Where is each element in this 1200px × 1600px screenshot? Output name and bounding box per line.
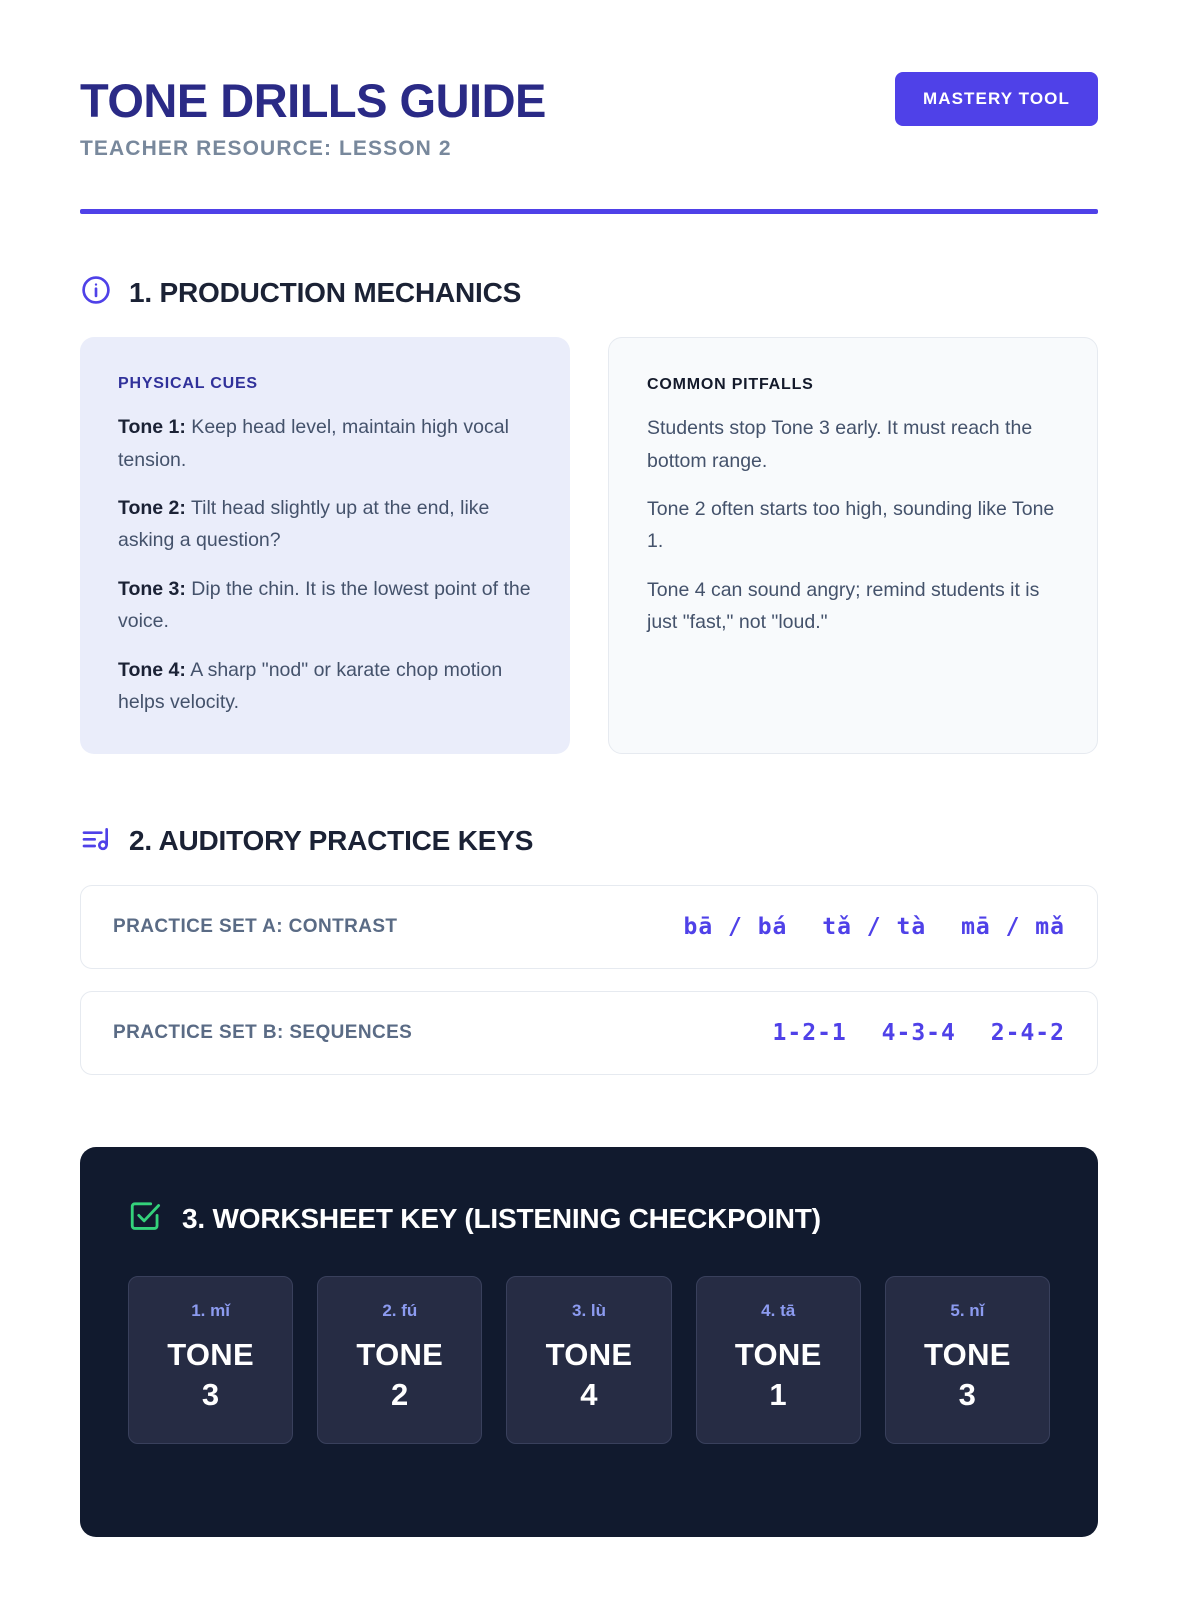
section2-heading-row: 2. AUDITORY PRACTICE KEYS — [80, 822, 1098, 859]
tone-answer-card[interactable]: 5. nǐ TONE 3 — [885, 1276, 1050, 1443]
practice-value: 4-3-4 — [882, 1020, 956, 1046]
tone-answer-card[interactable]: 1. mǐ TONE 3 — [128, 1276, 293, 1443]
common-pitfalls-kicker: COMMON PITFALLS — [647, 376, 1059, 394]
tone-card-number: 3 — [139, 1375, 282, 1415]
section1-title: 1. PRODUCTION MECHANICS — [129, 277, 521, 309]
physical-cues-item: Tone 4: A sharp "nod" or karate chop mot… — [118, 654, 532, 719]
page-header: TONE DRILLS GUIDE TEACHER RESOURCE: LESS… — [0, 0, 1200, 214]
audio-lines-note-icon — [80, 822, 112, 859]
tone-card-answer: TONE 4 — [517, 1335, 660, 1414]
physical-cues-item: Tone 3: Dip the chin. It is the lowest p… — [118, 573, 532, 638]
item-lead: Tone 2: — [118, 497, 186, 519]
page-subtitle: TEACHER RESOURCE: LESSON 2 — [80, 137, 546, 161]
practice-value: bā / bá — [683, 914, 787, 940]
tone-card-label: TONE — [167, 1337, 254, 1372]
tone-card-word: 4. tā — [707, 1301, 850, 1321]
tone-card-label: TONE — [924, 1337, 1011, 1372]
check-square-icon — [128, 1199, 162, 1238]
tone-card-label: TONE — [546, 1337, 633, 1372]
mastery-tool-button[interactable]: MASTERY TOOL — [895, 72, 1098, 126]
item-lead: Tone 1: — [118, 416, 186, 438]
practice-set-row[interactable]: PRACTICE SET B: SEQUENCES 1-2-1 4-3-4 2-… — [80, 991, 1098, 1075]
tone-card-answer: TONE 3 — [896, 1335, 1039, 1414]
practice-set-values: 1-2-1 4-3-4 2-4-2 — [773, 1020, 1065, 1046]
tone-answer-card[interactable]: 2. fú TONE 2 — [317, 1276, 482, 1443]
tone-card-word: 5. nǐ — [896, 1301, 1039, 1321]
practice-set-row[interactable]: PRACTICE SET A: CONTRAST bā / bá tǎ / tà… — [80, 885, 1098, 969]
physical-cues-item: Tone 1: Keep head level, maintain high v… — [118, 411, 532, 476]
mechanics-card-grid: PHYSICAL CUES Tone 1: Keep head level, m… — [80, 337, 1098, 754]
tone-answer-card[interactable]: 3. lù TONE 4 — [506, 1276, 671, 1443]
page-title: TONE DRILLS GUIDE — [80, 76, 546, 125]
physical-cues-item: Tone 2: Tilt head slightly up at the end… — [118, 492, 532, 557]
tone-card-number: 1 — [707, 1375, 850, 1415]
item-lead: Tone 3: — [118, 578, 186, 600]
section-worksheet-key: 3. WORKSHEET KEY (LISTENING CHECKPOINT) … — [80, 1147, 1098, 1537]
tone-card-answer: TONE 1 — [707, 1335, 850, 1414]
tone-drills-guide-page: TONE DRILLS GUIDE TEACHER RESOURCE: LESS… — [0, 0, 1200, 1600]
practice-value: mā / mǎ — [961, 914, 1065, 940]
practice-set-values: bā / bá tǎ / tà mā / mǎ — [683, 914, 1065, 940]
practice-set-label: PRACTICE SET A: CONTRAST — [113, 916, 397, 938]
tone-card-word: 3. lù — [517, 1301, 660, 1321]
section-production-mechanics: 1. PRODUCTION MECHANICS PHYSICAL CUES To… — [0, 214, 1200, 754]
common-pitfalls-item: Tone 4 can sound angry; remind students … — [647, 574, 1059, 639]
tone-card-word: 2. fú — [328, 1301, 471, 1321]
info-circle-icon — [80, 274, 112, 311]
practice-set-label: PRACTICE SET B: SEQUENCES — [113, 1022, 412, 1044]
tone-card-label: TONE — [356, 1337, 443, 1372]
tone-answer-card[interactable]: 4. tā TONE 1 — [696, 1276, 861, 1443]
common-pitfalls-item: Students stop Tone 3 early. It must reac… — [647, 412, 1059, 477]
item-lead: Tone 4: — [118, 659, 186, 681]
tone-card-word: 1. mǐ — [139, 1301, 282, 1321]
section2-title: 2. AUDITORY PRACTICE KEYS — [129, 825, 533, 857]
section-auditory-practice-keys: 2. AUDITORY PRACTICE KEYS PRACTICE SET A… — [0, 754, 1200, 1075]
tone-card-answer: TONE 2 — [328, 1335, 471, 1414]
worksheet-answer-grid: 1. mǐ TONE 3 2. fú TONE 2 3. lù TONE 4 — [128, 1276, 1050, 1443]
section3-title: 3. WORKSHEET KEY (LISTENING CHECKPOINT) — [182, 1203, 821, 1235]
tone-card-number: 2 — [328, 1375, 471, 1415]
tone-card-number: 4 — [517, 1375, 660, 1415]
common-pitfalls-item: Tone 2 often starts too high, sounding l… — [647, 493, 1059, 558]
section1-heading-row: 1. PRODUCTION MECHANICS — [80, 274, 1098, 311]
title-block: TONE DRILLS GUIDE TEACHER RESOURCE: LESS… — [80, 72, 546, 161]
practice-value: 1-2-1 — [773, 1020, 847, 1046]
common-pitfalls-card: COMMON PITFALLS Students stop Tone 3 ear… — [608, 337, 1098, 754]
practice-value: 2-4-2 — [991, 1020, 1065, 1046]
section3-heading-row: 3. WORKSHEET KEY (LISTENING CHECKPOINT) — [128, 1199, 1050, 1238]
practice-value: tǎ / tà — [822, 914, 926, 940]
tone-card-number: 3 — [896, 1375, 1039, 1415]
tone-card-answer: TONE 3 — [139, 1335, 282, 1414]
physical-cues-card: PHYSICAL CUES Tone 1: Keep head level, m… — [80, 337, 570, 754]
tone-card-label: TONE — [735, 1337, 822, 1372]
physical-cues-kicker: PHYSICAL CUES — [118, 375, 532, 393]
